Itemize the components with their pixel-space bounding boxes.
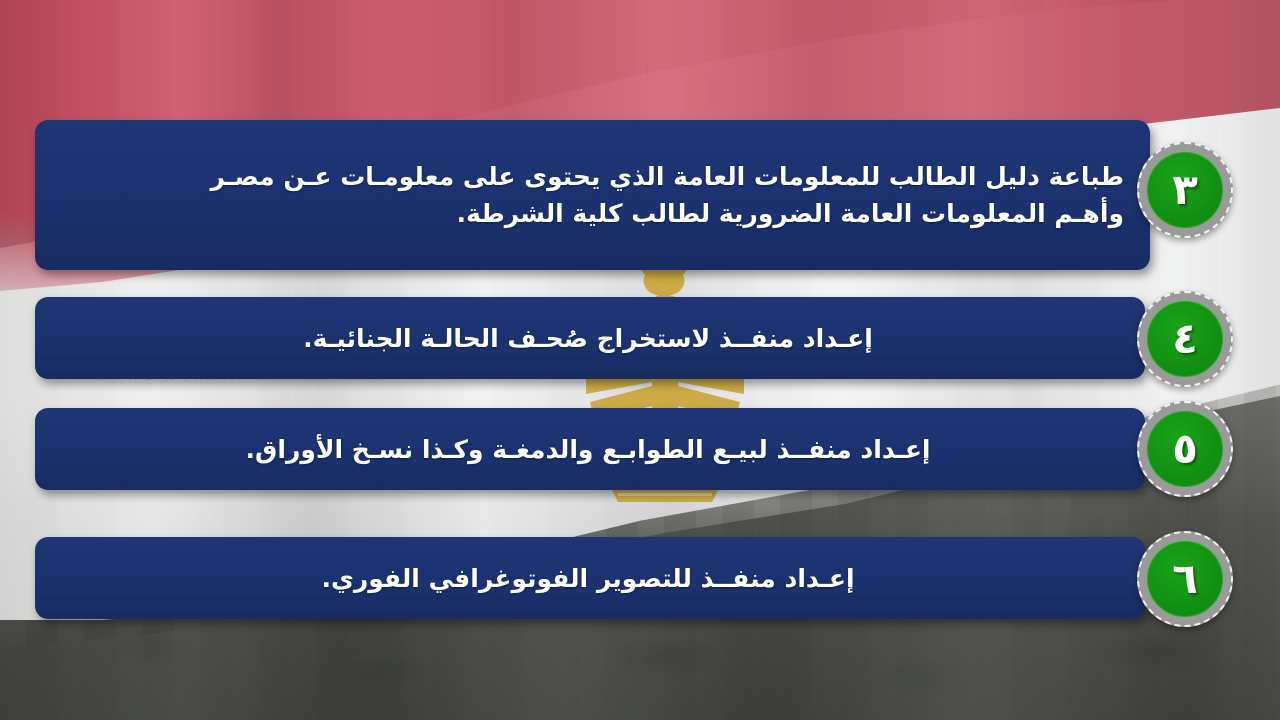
content-bar-4[interactable]: إعـداد منفــذ للتصوير الفوتوغرافي الفوري… <box>35 537 1145 619</box>
content-line: إعـداد منفــذ لاستخراج صُحـف الحالـة الج… <box>57 320 1119 357</box>
content-rows: طباعة دليل الطالب للمعلومات العامة الذي … <box>0 0 1280 720</box>
number-badge-inner: ٦ <box>1147 541 1223 617</box>
number-badge-inner: ٣ <box>1147 152 1223 228</box>
number-badge-inner: ٥ <box>1147 411 1223 487</box>
content-text-1: طباعة دليل الطالب للمعلومات العامة الذي … <box>35 158 1150 232</box>
number-badge-value: ٥ <box>1172 428 1198 470</box>
slide-root: POLICE ACADEMY طباعة دليل الطالب للمعلوم… <box>0 0 1280 720</box>
content-line: إعـداد منفــذ للتصوير الفوتوغرافي الفوري… <box>57 560 1119 597</box>
number-badge-1[interactable]: ٣ <box>1137 142 1233 238</box>
number-badge-4[interactable]: ٦ <box>1137 531 1233 627</box>
number-badge-inner: ٤ <box>1147 301 1223 377</box>
content-text-3: إعـداد منفــذ لبيـع الطوابـع والدمغـة وك… <box>35 431 1145 468</box>
content-text-4: إعـداد منفــذ للتصوير الفوتوغرافي الفوري… <box>35 560 1145 597</box>
content-line: وأهـم المعلومات العامة الضرورية لطالب كل… <box>57 195 1124 232</box>
number-badge-value: ٤ <box>1172 318 1198 360</box>
content-line: طباعة دليل الطالب للمعلومات العامة الذي … <box>57 158 1124 195</box>
content-bar-2[interactable]: إعـداد منفــذ لاستخراج صُحـف الحالـة الج… <box>35 297 1145 379</box>
content-bar-3[interactable]: إعـداد منفــذ لبيـع الطوابـع والدمغـة وك… <box>35 408 1145 490</box>
content-line: إعـداد منفــذ لبيـع الطوابـع والدمغـة وك… <box>57 431 1119 468</box>
number-badge-3[interactable]: ٥ <box>1137 401 1233 497</box>
number-badge-value: ٣ <box>1172 169 1198 211</box>
content-bar-1[interactable]: طباعة دليل الطالب للمعلومات العامة الذي … <box>35 120 1150 270</box>
number-badge-2[interactable]: ٤ <box>1137 291 1233 387</box>
number-badge-value: ٦ <box>1172 558 1198 600</box>
content-text-2: إعـداد منفــذ لاستخراج صُحـف الحالـة الج… <box>35 320 1145 357</box>
